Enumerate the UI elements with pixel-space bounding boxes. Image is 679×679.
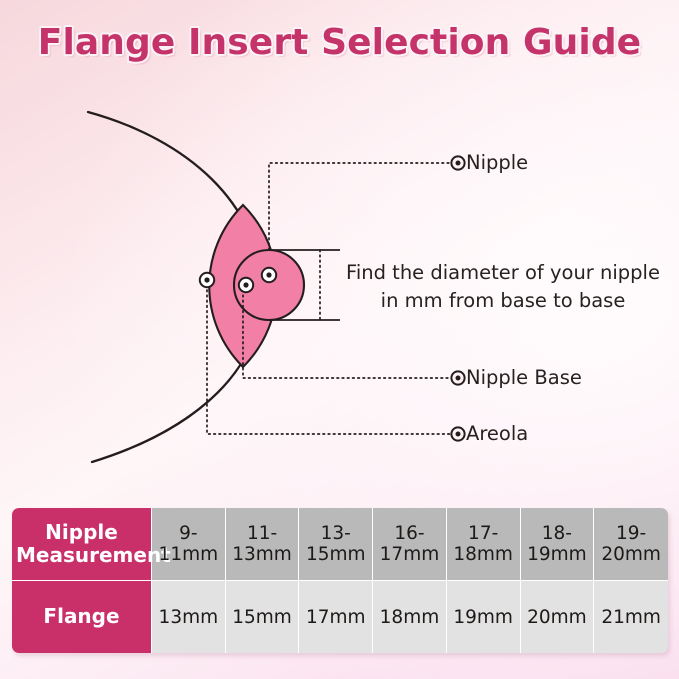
row-header-nipple-measurement: Nipple Measurement xyxy=(12,508,152,581)
row-header-flange: Flange xyxy=(12,581,152,653)
nipple-base-callout-dot-icon xyxy=(451,371,464,384)
flange-cell-1: 15mm xyxy=(226,581,300,653)
measurement-cell-3: 16-17mm xyxy=(373,508,447,581)
measurement-cell-6: 19-20mm xyxy=(594,508,668,581)
flange-cell-0: 13mm xyxy=(152,581,226,653)
flange-cell-3: 18mm xyxy=(373,581,447,653)
flange-cell-6: 21mm xyxy=(594,581,668,653)
measurement-cell-4: 17-18mm xyxy=(447,508,521,581)
nipple-base-marker xyxy=(239,278,253,292)
instruction-line-2: in mm from base to base xyxy=(338,287,668,315)
areola-callout-dot-icon xyxy=(451,427,464,440)
instruction-text: Find the diameter of your nipple in mm f… xyxy=(338,259,668,314)
breast-anatomy-diagram xyxy=(0,0,679,500)
callout-label-nipple: Nipple xyxy=(466,153,528,173)
measurement-cell-1: 11-13mm xyxy=(226,508,300,581)
measurement-cell-2: 13-15mm xyxy=(299,508,373,581)
flange-cell-4: 19mm xyxy=(447,581,521,653)
callout-label-areola: Areola xyxy=(466,424,528,444)
measurement-cell-0: 9-11mm xyxy=(152,508,226,581)
table-row-flange: Flange 13mm 15mm 17mm 18mm 19mm 20mm 21m… xyxy=(12,581,668,653)
flange-size-table: Nipple Measurement 9-11mm 11-13mm 13-15m… xyxy=(12,508,668,653)
nipple-callout-dot-icon xyxy=(451,156,464,169)
nipple-center-marker xyxy=(262,268,276,282)
flange-cell-5: 20mm xyxy=(521,581,595,653)
row-header-line-1: Nipple xyxy=(16,521,147,544)
nipple-leader-line xyxy=(269,163,458,250)
instruction-line-1: Find the diameter of your nipple xyxy=(338,259,668,287)
areola-edge-marker xyxy=(200,273,214,287)
measurement-cell-5: 18-19mm xyxy=(521,508,595,581)
row-header-line-2: Measurement xyxy=(16,544,147,567)
callout-label-nipple-base: Nipple Base xyxy=(466,368,582,388)
flange-insert-selection-guide: Flange Insert Selection Guide xyxy=(0,0,679,679)
flange-cell-2: 17mm xyxy=(299,581,373,653)
table-row-measurement: Nipple Measurement 9-11mm 11-13mm 13-15m… xyxy=(12,508,668,581)
